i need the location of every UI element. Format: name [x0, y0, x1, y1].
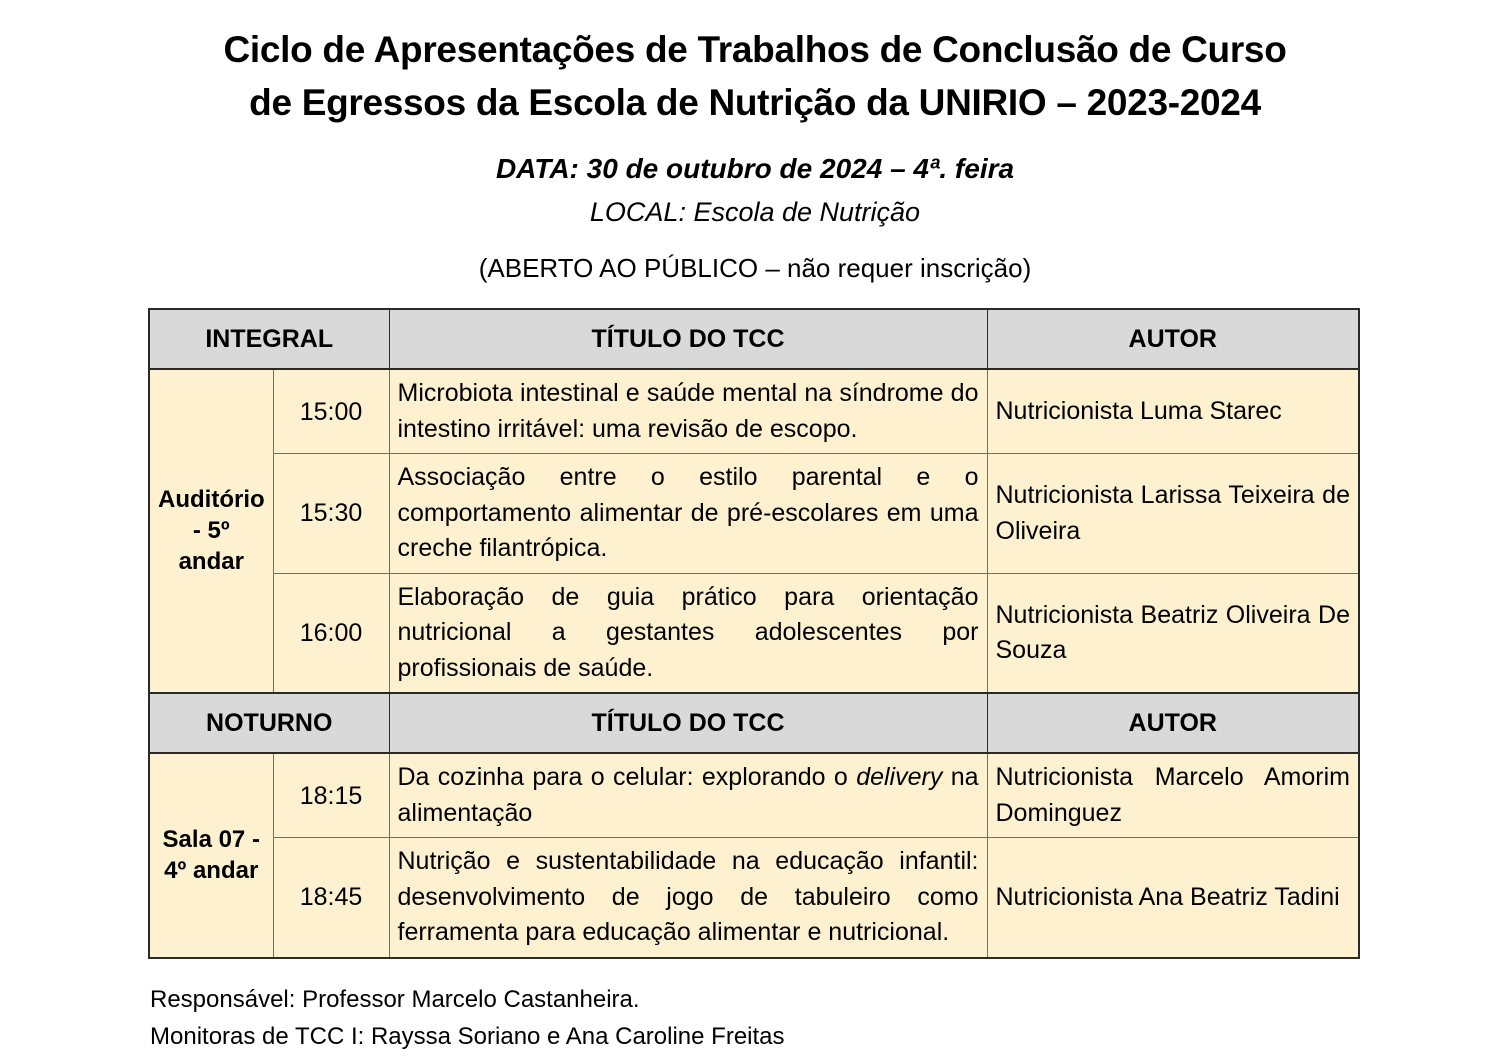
public-access-note: (ABERTO AO PÚBLICO – não requer inscriçã… — [0, 252, 1510, 285]
time-cell: 15:30 — [273, 454, 389, 574]
tcc-title-cell: Elaboração de guia prático para orientaç… — [389, 573, 987, 693]
footer-block: Responsável: Professor Marcelo Castanhei… — [0, 981, 1510, 1055]
table-row: Sala 07 - 4º andar 18:15 Da cozinha para… — [149, 753, 1359, 838]
time-cell: 15:00 — [273, 369, 389, 454]
room-line-1: Auditório — [158, 486, 265, 513]
title-text-before: Da cozinha para o celular: explorando o — [398, 763, 857, 791]
shift-label-noturno: NOTURNO — [149, 693, 389, 753]
room-cell-auditorio: Auditório - 5º andar — [149, 369, 273, 693]
tcc-title-cell: Da cozinha para o celular: explorando o … — [389, 753, 987, 838]
room-line-2: - 5º andar — [179, 517, 244, 575]
table-row: 15:30 Associação entre o estilo parental… — [149, 454, 1359, 574]
room-line-2: 4º andar — [164, 857, 258, 884]
tcc-title-cell: Microbiota intestinal e saúde mental na … — [389, 369, 987, 454]
page-title-line-2: de Egressos da Escola de Nutrição da UNI… — [150, 77, 1360, 130]
author-cell: Nutricionista Beatriz Oliveira De Souza — [987, 573, 1359, 693]
title-text-italic: delivery — [856, 763, 942, 791]
footer-monitors: Monitoras de TCC I: Rayssa Soriano e Ana… — [150, 1018, 1510, 1055]
column-header-author-noturno: AUTOR — [987, 693, 1359, 753]
time-cell: 18:45 — [273, 838, 389, 958]
section-header-noturno: NOTURNO TÍTULO DO TCC AUTOR — [149, 693, 1359, 753]
document-page: Ciclo de Apresentações de Trabalhos de C… — [0, 0, 1510, 1060]
table-row: 18:45 Nutrição e sustentabilidade na edu… — [149, 838, 1359, 958]
column-header-title-integral: TÍTULO DO TCC — [389, 309, 987, 369]
table-row: Auditório - 5º andar 15:00 Microbiota in… — [149, 369, 1359, 454]
header-block: Ciclo de Apresentações de Trabalhos de C… — [0, 0, 1510, 284]
page-title: Ciclo de Apresentações de Trabalhos de C… — [0, 24, 1510, 129]
event-date: DATA: 30 de outubro de 2024 – 4ª. feira — [0, 151, 1510, 186]
author-cell: Nutricionista Marcelo Amorim Dominguez — [987, 753, 1359, 838]
column-header-author-integral: AUTOR — [987, 309, 1359, 369]
room-line-1: Sala 07 - — [163, 826, 260, 853]
author-cell: Nutricionista Ana Beatriz Tadini — [987, 838, 1359, 958]
time-cell: 16:00 — [273, 573, 389, 693]
tcc-title-cell: Nutrição e sustentabilidade na educação … — [389, 838, 987, 958]
section-header-integral: INTEGRAL TÍTULO DO TCC AUTOR — [149, 309, 1359, 369]
table-row: 16:00 Elaboração de guia prático para or… — [149, 573, 1359, 693]
schedule-table-wrap: INTEGRAL TÍTULO DO TCC AUTOR Auditório -… — [0, 308, 1510, 959]
author-cell: Nutricionista Luma Starec — [987, 369, 1359, 454]
page-title-line-1: Ciclo de Apresentações de Trabalhos de C… — [150, 24, 1360, 77]
room-cell-sala07: Sala 07 - 4º andar — [149, 753, 273, 958]
column-header-title-noturno: TÍTULO DO TCC — [389, 693, 987, 753]
footer-responsible: Responsável: Professor Marcelo Castanhei… — [150, 981, 1510, 1018]
time-cell: 18:15 — [273, 753, 389, 838]
shift-label-integral: INTEGRAL — [149, 309, 389, 369]
tcc-title-cell: Associação entre o estilo parental e o c… — [389, 454, 987, 574]
schedule-table: INTEGRAL TÍTULO DO TCC AUTOR Auditório -… — [148, 308, 1360, 959]
event-location: LOCAL: Escola de Nutrição — [0, 196, 1510, 230]
author-cell: Nutricionista Larissa Teixeira de Olivei… — [987, 454, 1359, 574]
